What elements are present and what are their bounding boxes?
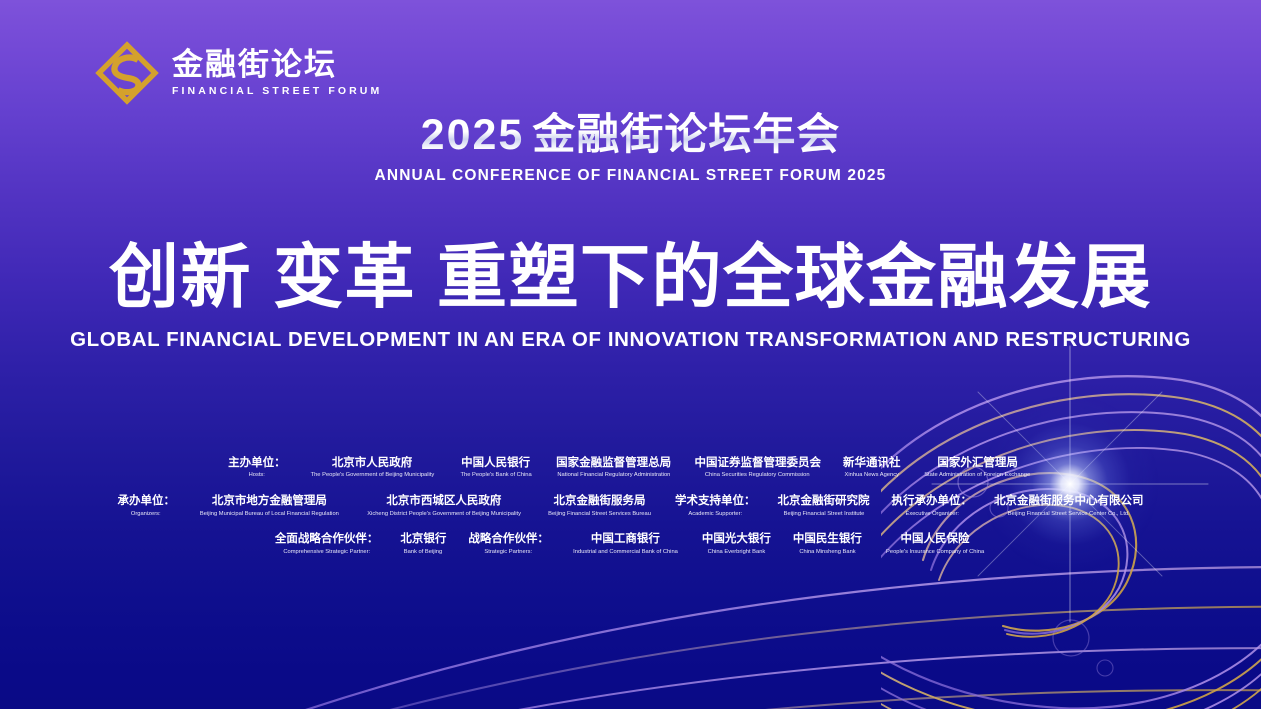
sponsor-name-en: Comprehensive Strategic Partner: xyxy=(277,549,376,556)
sponsor-name-en: Academic Supporter: xyxy=(677,511,754,518)
sponsor-name-cn: 战略合作伙伴： xyxy=(468,532,549,546)
sponsor-category-label: 主办单位：Hosts: xyxy=(217,456,297,480)
sponsor-name-cn: 北京市人民政府 xyxy=(308,456,437,470)
sponsor-name-cn: 新华通讯社 xyxy=(843,456,901,470)
sponsor-entity: 中国人民银行The People's Bank of China xyxy=(448,456,544,480)
sponsor-section: 主办单位：Hosts:北京市人民政府The People's Governmen… xyxy=(0,456,1261,571)
sponsor-name-en: Beijing Financial Street Institute xyxy=(779,511,867,518)
sponsor-name-cn: 中国民生银行 xyxy=(793,532,862,546)
sponsor-row: 主办单位：Hosts:北京市人民政府The People's Governmen… xyxy=(0,456,1261,480)
sponsor-name-cn: 中国工商银行 xyxy=(571,532,680,546)
sponsor-name-cn: 中国光大银行 xyxy=(702,532,771,546)
sponsor-row: 全面战略合作伙伴：Comprehensive Strategic Partner… xyxy=(0,532,1261,556)
sponsor-name-en: Bank of Beijing xyxy=(401,549,445,556)
event-title-block: 2025金融街论坛年会 ANNUAL CONFERENCE OF FINANCI… xyxy=(0,112,1261,185)
event-title-cn: 金融街论坛年会 xyxy=(532,111,840,159)
sponsor-entity: 中国光大银行China Everbright Bank xyxy=(691,532,782,556)
sponsor-name-en: National Financial Regulatory Administra… xyxy=(557,473,670,480)
sponsor-name-cn: 北京市西城区人民政府 xyxy=(364,494,524,508)
sponsor-name-en: China Everbright Bank xyxy=(703,549,769,556)
headline-cn: 创新 变革 重塑下的全球金融发展 xyxy=(0,238,1261,316)
sponsor-entity: 北京金融街服务局Beijing Financial Street Service… xyxy=(535,494,664,518)
sponsor-name-cn: 北京金融街服务中心有限公司 xyxy=(994,494,1144,508)
sponsor-name-cn: 中国人民保险 xyxy=(884,532,986,546)
sponsor-category-label: 学术支持单位：Academic Supporter: xyxy=(664,494,767,518)
headline-en: GLOBAL FINANCIAL DEVELOPMENT IN AN ERA O… xyxy=(0,328,1261,352)
sponsor-name-en: China Minsheng Bank xyxy=(794,549,860,556)
sponsor-name-en: Xinhua News Agency xyxy=(844,473,899,480)
event-title: 2025金融街论坛年会 xyxy=(0,112,1261,159)
sponsor-name-en: Beijing Financial Street Service Center … xyxy=(997,511,1141,518)
sponsor-entity: 北京金融街研究院Beijing Financial Street Institu… xyxy=(767,494,881,518)
sponsor-name-en: People's Insurance Company of China xyxy=(886,549,984,556)
sponsor-category-label: 战略合作伙伴：Strategic Partners: xyxy=(457,532,560,556)
sponsor-entity: 新华通讯社Xinhua News Agency xyxy=(832,456,912,480)
sponsor-entity: 北京市人民政府The People's Government of Beijin… xyxy=(297,456,448,480)
forum-logo: 金融街论坛 FINANCIAL STREET FORUM xyxy=(94,40,382,106)
sponsor-entity: 中国民生银行China Minsheng Bank xyxy=(782,532,873,556)
event-year: 2025 xyxy=(421,111,533,159)
event-title-en: ANNUAL CONFERENCE OF FINANCIAL STREET FO… xyxy=(0,167,1261,185)
sponsor-name-cn: 承办单位： xyxy=(117,494,175,508)
sponsor-category-label: 承办单位：Organizers: xyxy=(106,494,186,518)
sponsor-entity: 国家金融监督管理总局National Financial Regulatory … xyxy=(544,456,684,480)
sponsor-name-cn: 全面战略合作伙伴： xyxy=(275,532,379,546)
sponsor-name-en: Organizers: xyxy=(119,511,174,518)
sponsor-name-cn: 主办单位： xyxy=(228,456,286,470)
sponsor-entity: 北京银行Bank of Beijing xyxy=(389,532,457,556)
sponsor-entity: 北京市西城区人民政府Xicheng District People's Gove… xyxy=(353,494,535,518)
sponsor-name-en: Executive Organizer: xyxy=(893,511,970,518)
sponsor-name-en: Industrial and Commercial Bank of China xyxy=(573,549,678,556)
conference-poster: 金融街论坛 FINANCIAL STREET FORUM 2025金融街论坛年会… xyxy=(0,0,1261,709)
sponsor-entity: 国家外汇管理局State Administration of Foreign E… xyxy=(911,456,1043,480)
sponsor-name-cn: 北京金融街服务局 xyxy=(546,494,653,508)
sponsor-name-en: The People's Government of Beijing Munic… xyxy=(310,473,434,480)
sponsor-entity: 北京市地方金融管理局Beijing Municipal Bureau of Lo… xyxy=(186,494,353,518)
sponsor-row: 承办单位：Organizers:北京市地方金融管理局Beijing Munici… xyxy=(0,494,1261,518)
sponsor-name-en: Hosts: xyxy=(229,473,284,480)
sponsor-name-cn: 执行承办单位： xyxy=(892,494,973,508)
sponsor-name-en: China Securities Regulatory Commission xyxy=(697,473,818,480)
sponsor-entity: 中国证券监督管理委员会China Securities Regulatory C… xyxy=(683,456,832,480)
sponsor-name-cn: 国家外汇管理局 xyxy=(922,456,1032,470)
sponsor-name-cn: 国家金融监督管理总局 xyxy=(555,456,673,470)
sponsor-name-cn: 北京金融街研究院 xyxy=(778,494,870,508)
sponsor-name-cn: 北京市地方金融管理局 xyxy=(197,494,342,508)
logo-title-en: FINANCIAL STREET FORUM xyxy=(172,85,382,97)
sponsor-name-en: The People's Bank of China xyxy=(460,473,531,480)
sponsor-category-label: 全面战略合作伙伴：Comprehensive Strategic Partner… xyxy=(264,532,390,556)
sponsor-entity: 中国工商银行Industrial and Commercial Bank of … xyxy=(560,532,691,556)
sponsor-name-cn: 中国人民银行 xyxy=(459,456,533,470)
sponsor-name-cn: 学术支持单位： xyxy=(675,494,756,508)
sponsor-name-en: State Administration of Foreign Exchange xyxy=(925,473,1031,480)
sponsor-entity: 中国人民保险People's Insurance Company of Chin… xyxy=(873,532,997,556)
headline-block: 创新 变革 重塑下的全球金融发展 GLOBAL FINANCIAL DEVELO… xyxy=(0,238,1261,352)
sponsor-category-label: 执行承办单位：Executive Organizer: xyxy=(881,494,984,518)
sponsor-entity: 北京金融街服务中心有限公司Beijing Financial Street Se… xyxy=(983,494,1155,518)
logo-title-cn: 金融街论坛 xyxy=(172,49,382,82)
sponsor-name-cn: 中国证券监督管理委员会 xyxy=(694,456,821,470)
financial-street-forum-emblem-icon xyxy=(94,40,160,106)
sponsor-name-cn: 北京银行 xyxy=(400,532,446,546)
sponsor-name-en: Xicheng District People's Government of … xyxy=(367,511,521,518)
sponsor-name-en: Beijing Financial Street Services Bureau xyxy=(548,511,651,518)
sponsor-name-en: Beijing Municipal Bureau of Local Financ… xyxy=(200,511,339,518)
sponsor-name-en: Strategic Partners: xyxy=(470,549,547,556)
